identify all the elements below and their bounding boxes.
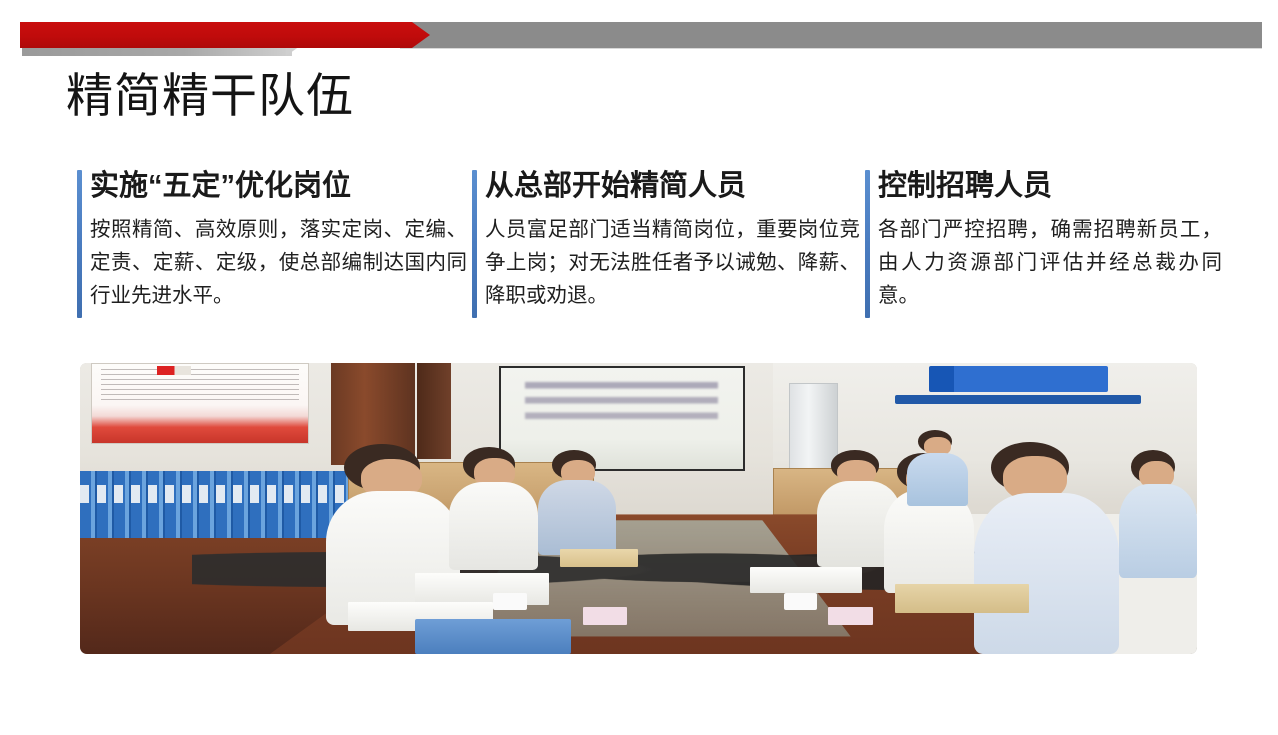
column-heading: 从总部开始精简人员 <box>485 168 860 204</box>
photo-person-body <box>974 493 1119 654</box>
photo-person-body <box>907 453 968 506</box>
photo-person-background <box>907 430 968 506</box>
column-accent-bar <box>472 170 477 318</box>
page-title: 精简精干队伍 <box>66 70 354 122</box>
photo-person-body <box>449 482 538 570</box>
top-banner <box>0 0 1278 72</box>
column-1: 实施“五定”优化岗位 按照精简、高效原则，落实定岗、定编、定责、定薪、定级，使总… <box>72 168 467 313</box>
photo-person-left-3 <box>538 450 616 555</box>
photo-wall-logo-bar <box>895 395 1141 404</box>
photo-blue-folder <box>415 619 571 654</box>
column-heading: 控制招聘人员 <box>878 168 1222 204</box>
photo-projection-screen-text <box>525 382 718 428</box>
column-accent-bar <box>865 170 870 318</box>
photo-poster-board <box>91 363 309 444</box>
photo-person-left-2 <box>449 447 538 569</box>
photo-cup <box>784 593 818 610</box>
column-heading: 实施“五定”优化岗位 <box>90 168 467 204</box>
column-body: 人员富足部门适当精简岗位，重要岗位竞争上岗；对无法胜任者予以诫勉、降薪、降职或劝… <box>485 214 860 312</box>
photo-poster-flag <box>157 366 192 376</box>
bottom-banner: 8 <box>0 664 1278 735</box>
photo-notebook <box>895 584 1029 613</box>
content-columns: 实施“五定”优化岗位 按照精简、高效原则，落实定岗、定编、定责、定薪、定级，使总… <box>72 168 1222 313</box>
photo-name-card <box>828 607 873 624</box>
photo-wall-logo-icon <box>929 366 1108 392</box>
column-3: 控制招聘人员 各部门严控招聘，确需招聘新员工，由人力资源部门评估并经总裁办同意。 <box>860 168 1222 313</box>
slide: 精简精干队伍 实施“五定”优化岗位 按照精简、高效原则，落实定岗、定编、定责、定… <box>0 0 1278 735</box>
photo-name-card <box>583 607 628 624</box>
photo-cup <box>493 593 527 610</box>
photo-person-body <box>538 480 616 555</box>
top-red-arrow <box>20 22 430 48</box>
photo-person-right-3 <box>974 442 1119 654</box>
meeting-photo-image <box>80 363 1197 654</box>
photo-poster-text <box>101 369 300 401</box>
column-2: 从总部开始精简人员 人员富足部门适当精简岗位，重要岗位竞争上岗；对无法胜任者予以… <box>467 168 860 313</box>
column-accent-bar <box>77 170 82 318</box>
column-body: 按照精简、高效原则，落实定岗、定编、定责、定薪、定级，使总部编制达国内同行业先进… <box>90 214 467 312</box>
photo-paper-stack <box>415 573 549 605</box>
photo-paper-stack <box>750 567 862 593</box>
column-body: 各部门严控招聘，确需招聘新员工，由人力资源部门评估并经总裁办同意。 <box>878 214 1222 312</box>
photo-notebook <box>560 549 638 566</box>
top-gray-bar <box>400 22 1262 48</box>
meeting-photo <box>80 363 1197 654</box>
photo-person-body <box>1119 484 1197 579</box>
photo-person-right-4 <box>1119 450 1197 578</box>
